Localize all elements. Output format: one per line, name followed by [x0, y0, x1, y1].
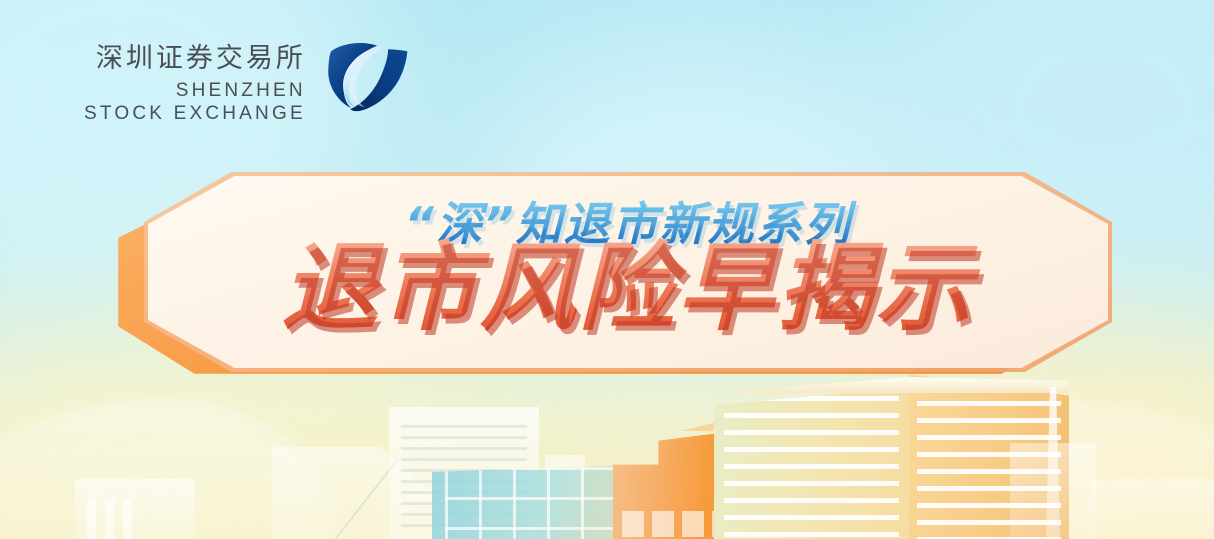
- szse-name-en: SHENZHEN STOCK EXCHANGE: [84, 79, 306, 125]
- szse-name-cn: 深圳证券交易所: [96, 45, 306, 72]
- building-pale-far-right: [1090, 479, 1214, 539]
- poster-root: 深圳证券交易所 SHENZHEN STOCK EXCHANGE: [0, 0, 1214, 539]
- szse-logo-text: 深圳证券交易所 SHENZHEN STOCK EXCHANGE: [84, 45, 306, 125]
- building-twin-left-face: [714, 387, 909, 539]
- banner-text-group: “深”知退市新规系列 退市风险早揭示: [148, 176, 1108, 368]
- szse-logo: 深圳证券交易所 SHENZHEN STOCK EXCHANGE: [84, 45, 412, 125]
- szse-leaf-logo-icon: [320, 31, 412, 123]
- building-twin-roof: [714, 377, 1069, 393]
- banner-main-title: 退市风险早揭示: [148, 238, 1108, 339]
- szse-name-en-line1: SHENZHEN: [84, 79, 306, 102]
- title-banner: “深”知退市新规系列 退市风险早揭示: [118, 172, 1118, 378]
- building-antenna-base: [1010, 443, 1096, 539]
- building-pale-far-left: [75, 479, 195, 539]
- szse-name-en-line2: STOCK EXCHANGE: [84, 102, 306, 125]
